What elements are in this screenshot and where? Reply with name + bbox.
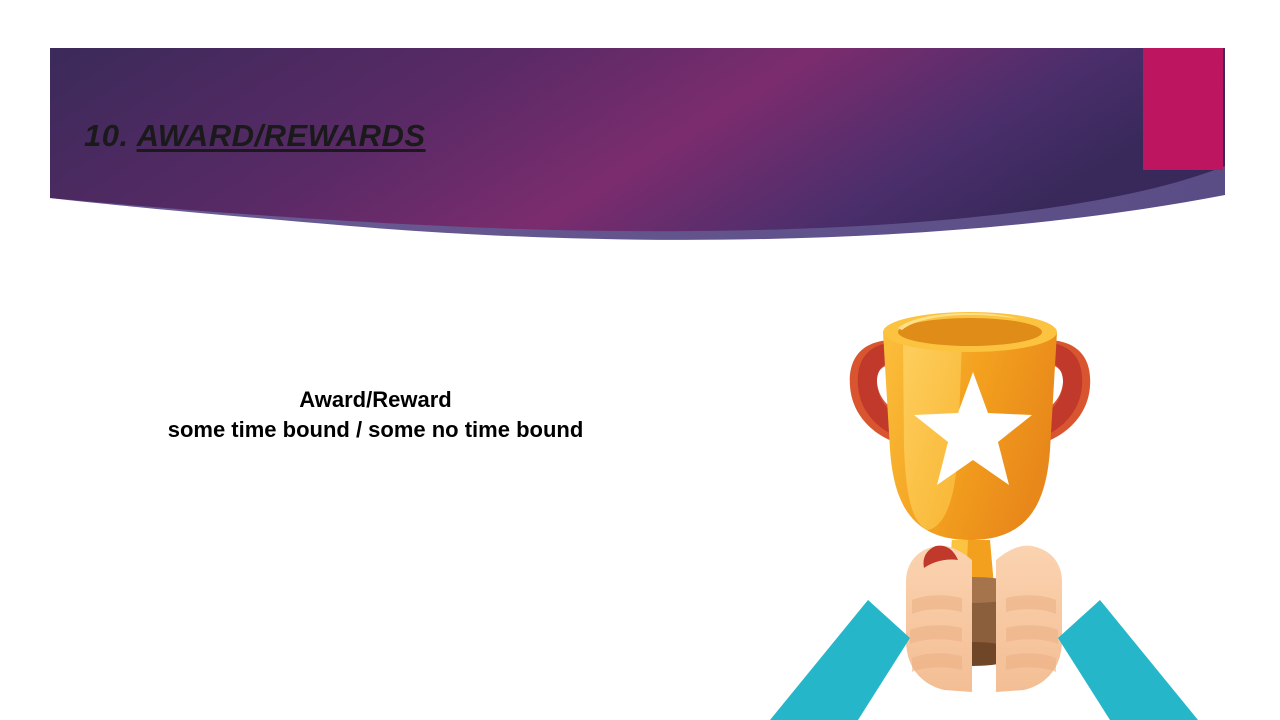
trophy-rim-inner [898,318,1042,346]
right-sleeve [1058,600,1198,720]
left-hand [906,546,972,692]
trophy-svg [740,300,1280,720]
title-text: AWARD/REWARDS [137,118,426,153]
magenta-accent-rectangle [1143,48,1223,170]
hands-holding-trophy-illustration [740,300,1280,720]
title-number: 10. [84,118,129,153]
body-line-1: Award/Reward [48,385,703,415]
body-text-block: Award/Reward some time bound / some no t… [48,385,703,445]
body-line-2: some time bound / some no time bound [48,415,703,445]
left-sleeve [770,600,910,720]
right-hand [996,546,1062,692]
page-title: 10. AWARD/REWARDS [84,118,426,154]
